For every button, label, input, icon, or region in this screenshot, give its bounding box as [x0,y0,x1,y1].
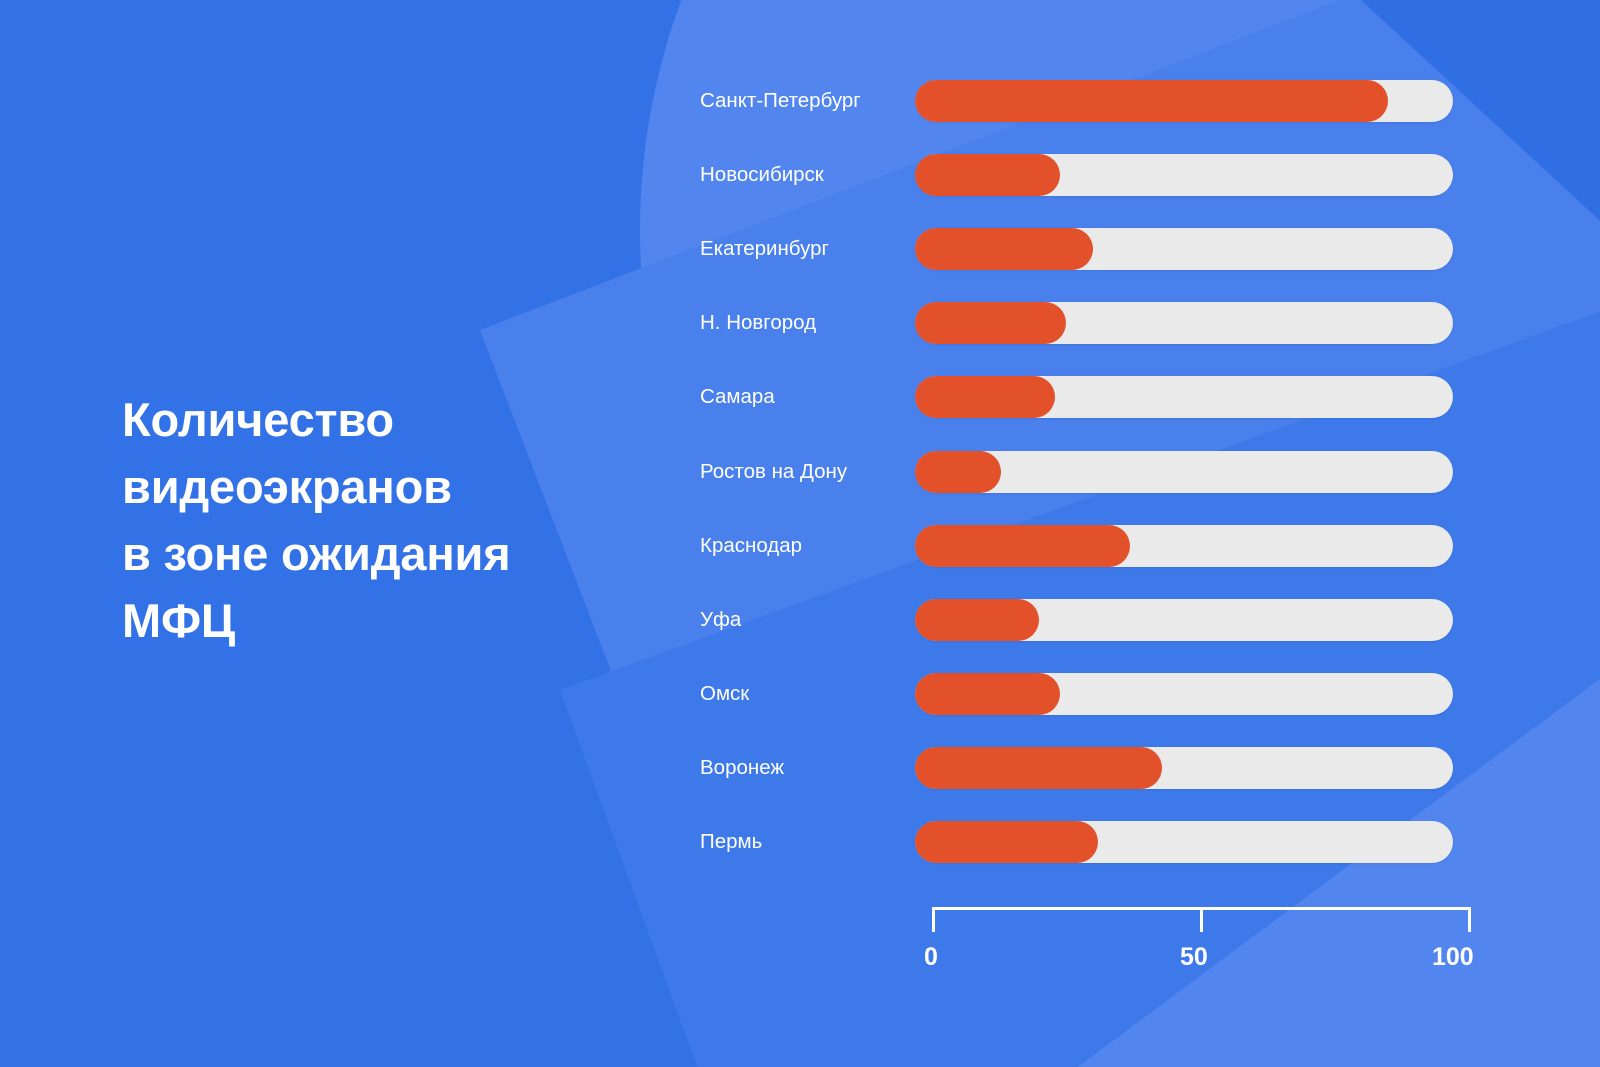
bar-row: Н. Новгород [700,300,1490,346]
infographic-canvas: Количество видеоэкранов в зоне ожидания … [0,0,1600,1067]
bar-fill [915,821,1098,863]
bar-row: Уфа [700,597,1490,643]
bar-track [915,376,1453,418]
bar-fill [915,376,1055,418]
axis-tick-50 [1200,907,1203,932]
bar-fill [915,80,1388,122]
bar-row: Краснодар [700,523,1490,569]
bar-row-label: Н. Новгород [700,311,915,335]
bar-track [915,80,1453,122]
bar-fill [915,747,1162,789]
bar-row-label: Уфа [700,608,915,632]
bar-row-label: Омск [700,682,915,706]
bar-track [915,525,1453,567]
bar-fill [915,154,1060,196]
bar-fill [915,302,1066,344]
bar-fill [915,228,1093,270]
bar-track [915,302,1453,344]
chart-x-axis: 0 50 100 [932,907,1471,908]
bar-fill [915,599,1039,641]
bar-row: Екатеринбург [700,226,1490,272]
bar-row-label: Екатеринбург [700,237,915,261]
bar-row-label: Воронеж [700,756,915,780]
axis-tick-0 [932,907,935,932]
bar-track [915,451,1453,493]
bar-row-label: Санкт-Петербург [700,89,915,113]
axis-label-0: 0 [924,943,938,972]
bar-row-label: Пермь [700,830,915,854]
axis-label-100: 100 [1432,943,1474,972]
bar-track [915,747,1453,789]
bar-row: Ростов на Дону [700,449,1490,495]
bar-track [915,228,1453,270]
bar-row: Новосибирск [700,152,1490,198]
bar-row: Самара [700,374,1490,420]
bar-row-label: Ростов на Дону [700,460,915,484]
bar-row-label: Краснодар [700,534,915,558]
bar-track [915,154,1453,196]
axis-label-50: 50 [1180,943,1208,972]
bar-row-label: Самара [700,385,915,409]
bar-track [915,673,1453,715]
bar-fill [915,673,1060,715]
bar-fill [915,451,1001,493]
bar-row: Омск [700,671,1490,717]
bar-row: Пермь [700,819,1490,865]
bar-track [915,599,1453,641]
bar-track [915,821,1453,863]
bar-row-label: Новосибирск [700,163,915,187]
bar-row: Воронеж [700,745,1490,791]
bar-row: Санкт-Петербург [700,78,1490,124]
axis-tick-100 [1468,907,1471,932]
bar-fill [915,525,1130,567]
